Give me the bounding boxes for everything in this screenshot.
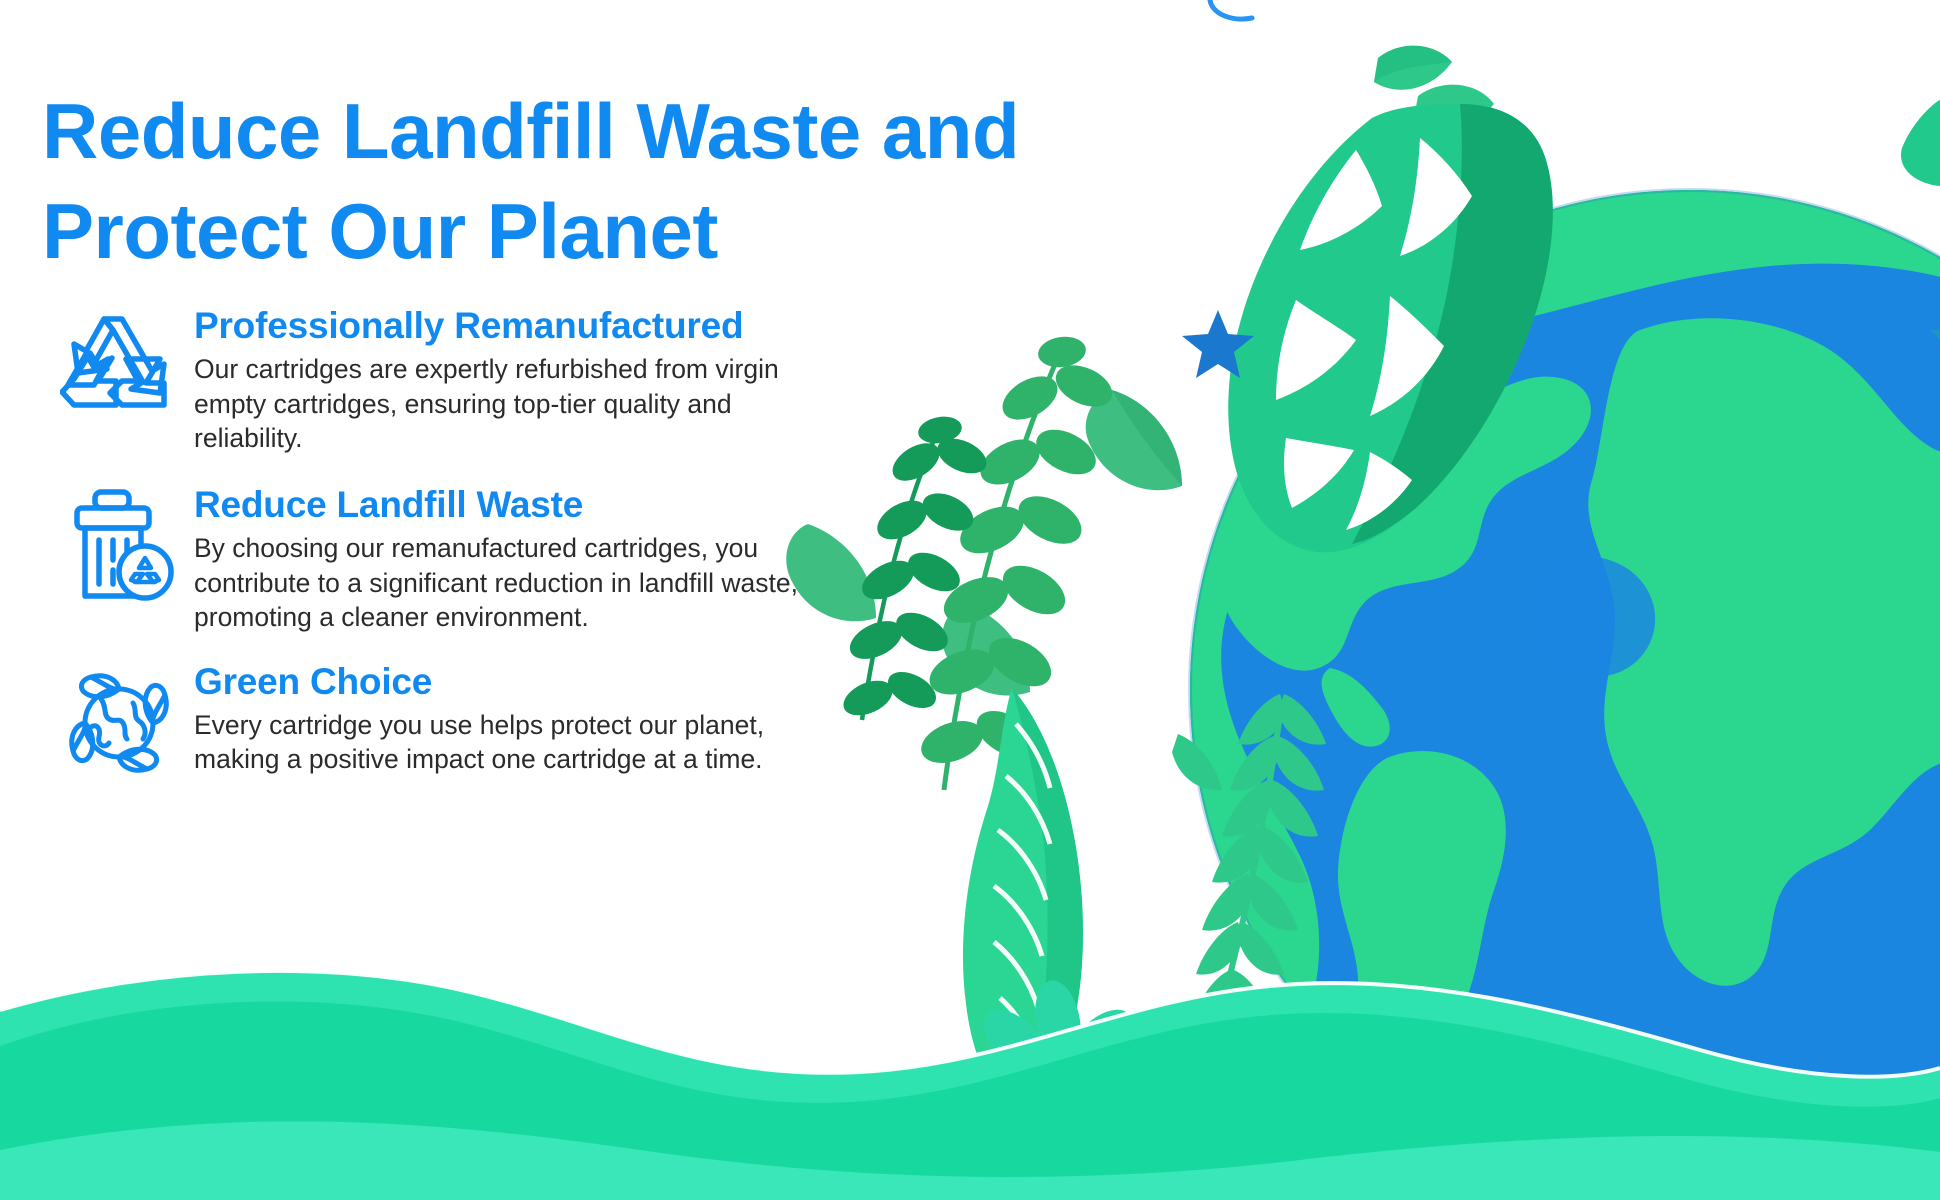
feature-item-landfill: Reduce Landfill Waste By choosing our re… [44, 484, 1054, 635]
floating-leaf-top-a [1374, 46, 1452, 90]
feature-text-block: Reduce Landfill Waste By choosing our re… [194, 484, 814, 635]
content-column: Reduce Landfill Waste and Protect Our Pl… [0, 0, 1100, 1200]
feature-title: Professionally Remanufactured [194, 305, 814, 346]
earth-globe [1188, 190, 1940, 1200]
page-title: Reduce Landfill Waste and Protect Our Pl… [42, 82, 1082, 282]
feature-title: Green Choice [194, 661, 814, 702]
feature-text-block: Professionally Remanufactured Our cartri… [194, 305, 814, 456]
fern-small-bottom [1172, 734, 1222, 790]
floating-leaf-top-right [1901, 100, 1940, 186]
feature-list: Professionally Remanufactured Our cartri… [44, 305, 1054, 813]
monstera-leaf [1228, 104, 1553, 552]
trash-bin-recycle-icon [44, 484, 194, 612]
headline-line-2: Protect Our Planet [42, 182, 1082, 282]
floating-leaf-mid [1086, 390, 1182, 490]
feature-body: By choosing our remanufactured cartridge… [194, 531, 814, 634]
fern-plant [1194, 694, 1326, 1019]
feature-body: Every cartridge you use helps protect ou… [194, 708, 814, 777]
eco-banner: Reduce Landfill Waste and Protect Our Pl… [0, 0, 1940, 1200]
floating-leaf-top-b [1414, 85, 1494, 128]
recycle-arrows-icon [44, 305, 194, 433]
star-icon [1182, 310, 1254, 378]
globe-leaves-icon [44, 661, 194, 789]
feature-body: Our cartridges are expertly refurbished … [194, 352, 814, 455]
feature-text-block: Green Choice Every cartridge you use hel… [194, 661, 814, 777]
feature-item-remanufactured: Professionally Remanufactured Our cartri… [44, 305, 1054, 456]
headline-line-1: Reduce Landfill Waste and [42, 87, 1019, 175]
feature-item-green-choice: Green Choice Every cartridge you use hel… [44, 661, 1054, 789]
feature-title: Reduce Landfill Waste [194, 484, 814, 525]
